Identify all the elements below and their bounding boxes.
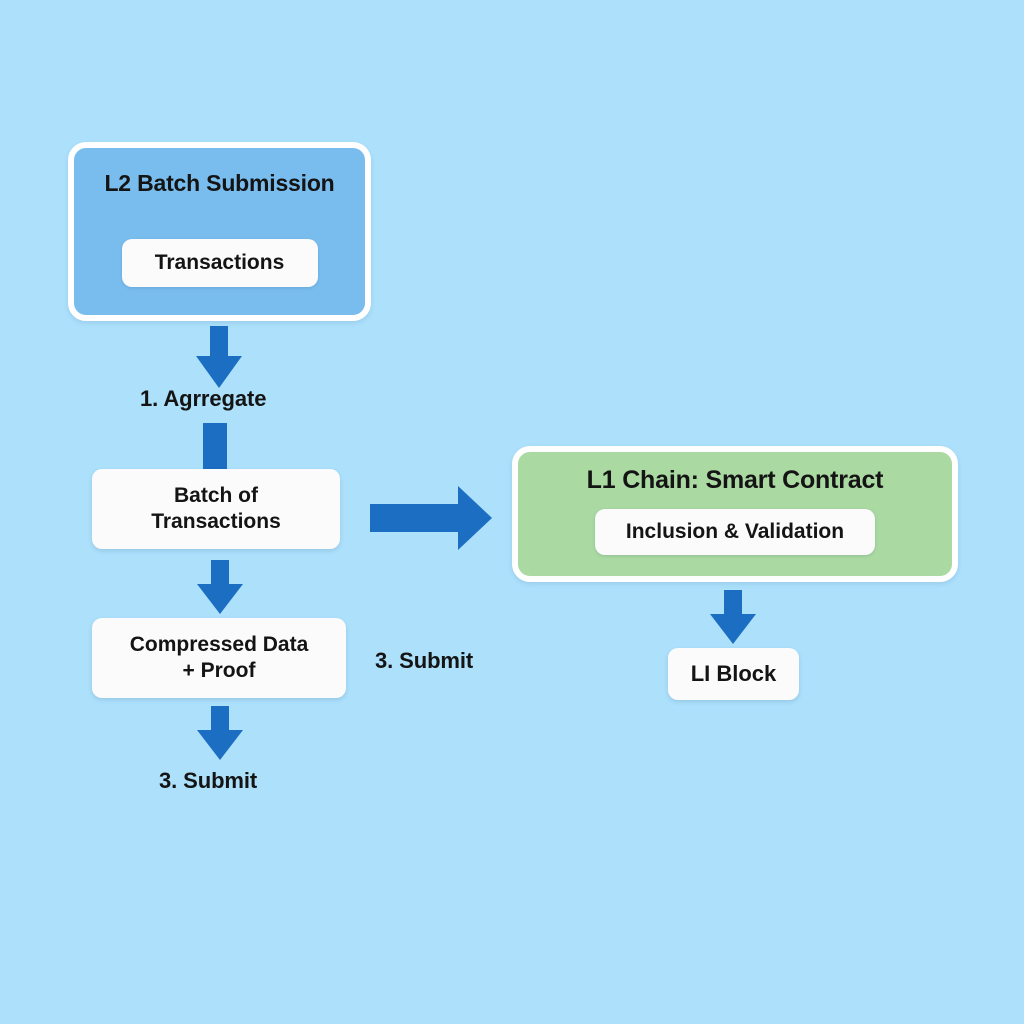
l1-block-label: LI Block [691, 661, 777, 688]
compressed-data-proof-label: Compressed Data + Proof [130, 632, 309, 683]
l2-batch-submission-group[interactable]: L2 Batch Submission Transactions [68, 142, 371, 321]
batch-of-transactions-node[interactable]: Batch of Transactions [92, 469, 340, 549]
l1-group-title: L1 Chain: Smart Contract [587, 466, 884, 495]
batch-of-transactions-label: Batch of Transactions [151, 483, 281, 534]
edge-label-submit-vertical: 3. Submit [159, 768, 257, 794]
transactions-chip[interactable]: Transactions [122, 239, 318, 287]
arrow-down-icon-batch-to-compressed [197, 560, 243, 614]
arrow-down-icon-aggregate [196, 326, 242, 388]
edge-label-aggregate: 1. Agrregate [140, 386, 266, 412]
edge-label-submit-horizontal: 3. Submit [375, 648, 473, 674]
l1-block-node[interactable]: LI Block [668, 648, 799, 700]
arrow-down-icon-submit [197, 706, 243, 760]
l2-group-title: L2 Batch Submission [104, 170, 334, 197]
arrow-down-icon-l1-block [710, 590, 756, 644]
diagram-canvas: L2 Batch Submission Transactions 1. Agrr… [0, 0, 1024, 1024]
arrow-right-icon-submit [370, 486, 492, 550]
inclusion-validation-chip[interactable]: Inclusion & Validation [595, 509, 875, 555]
l1-chain-smart-contract-group[interactable]: L1 Chain: Smart Contract Inclusion & Val… [512, 446, 958, 582]
connector-stem-aggregate [203, 423, 227, 469]
compressed-data-proof-node[interactable]: Compressed Data + Proof [92, 618, 346, 698]
